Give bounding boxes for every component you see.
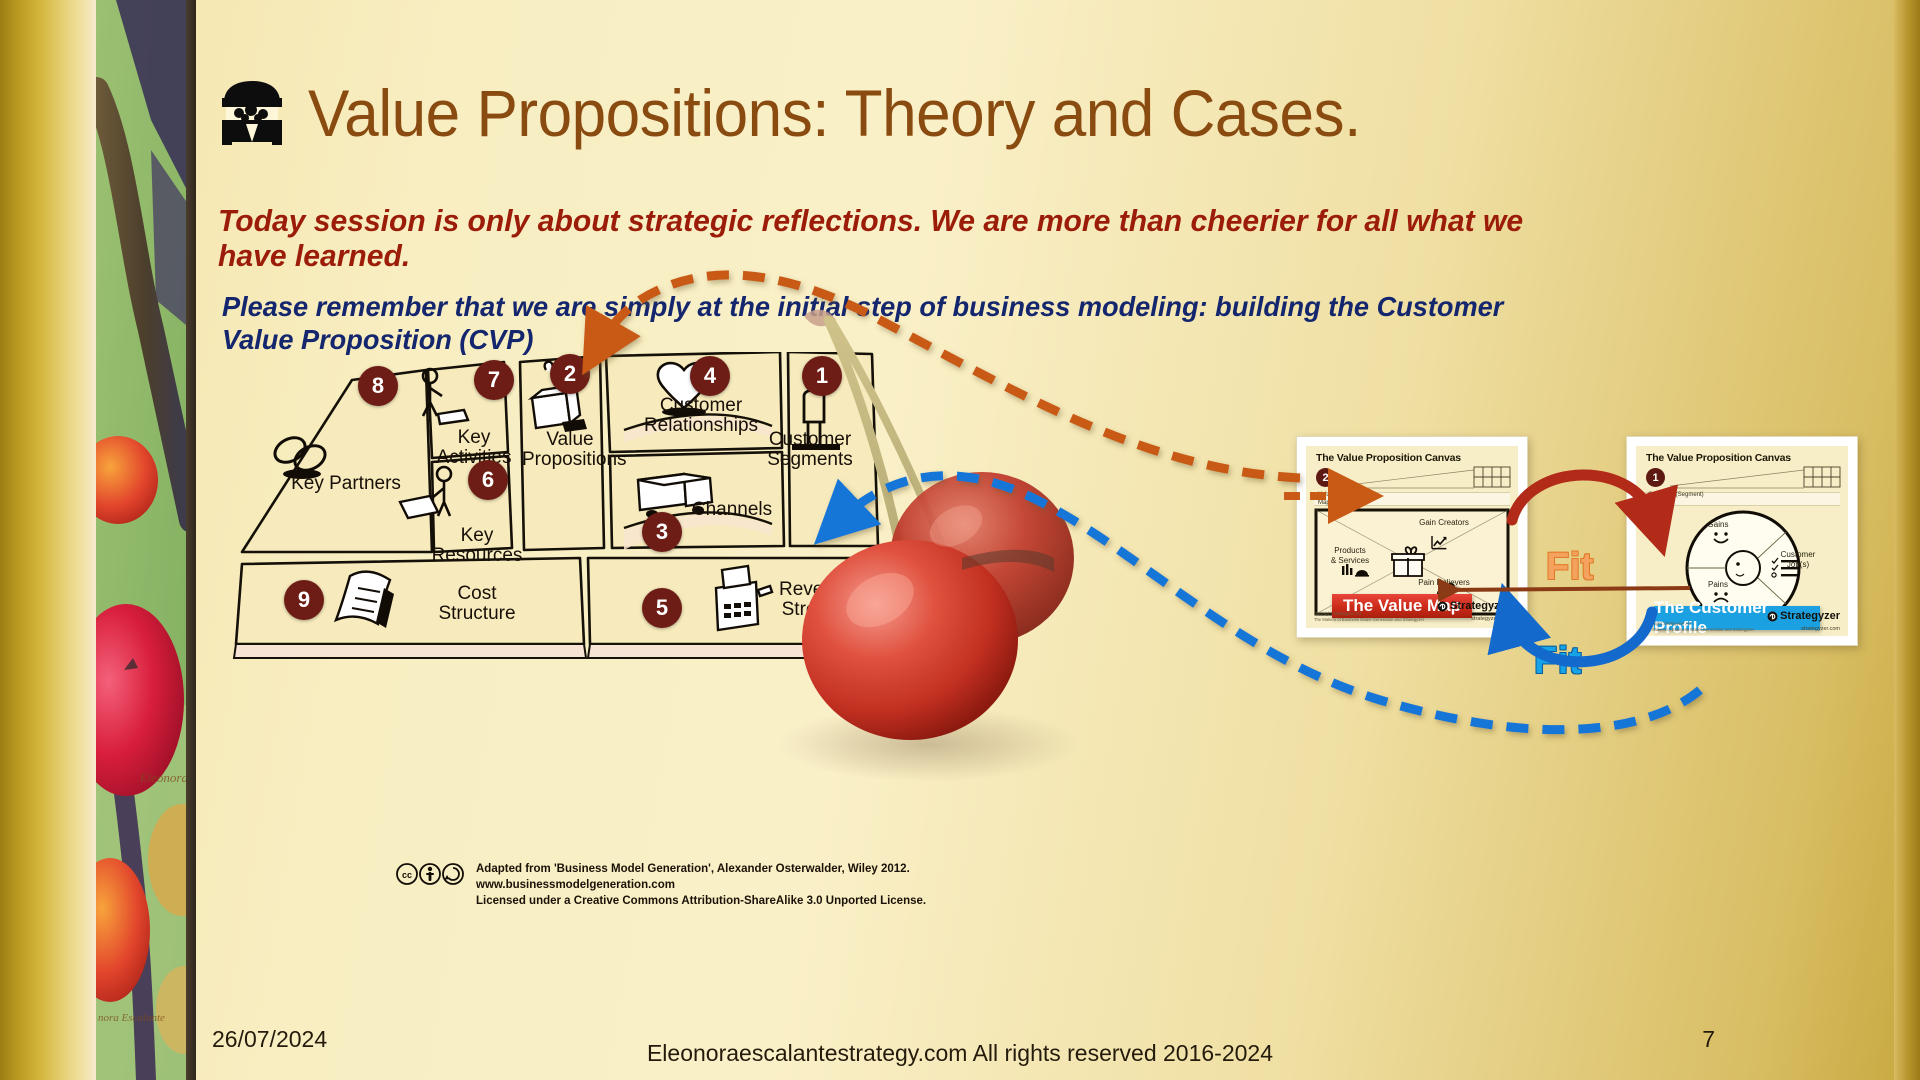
bmc-label-cost-structure: Cost Structure xyxy=(422,584,532,624)
bmc-number-8: 8 xyxy=(358,366,398,406)
left-fruit-artwork: Eleonora nora Escalante xyxy=(96,0,192,1080)
footer-copyright: Eleonoraescalantestrategy.com All rights… xyxy=(0,1040,1920,1067)
bmc-number-3: 3 xyxy=(642,512,682,552)
right-gold-edge-band xyxy=(1894,0,1920,1080)
bmc-number-7: 7 xyxy=(474,360,514,400)
customer-profile-brand: Strategyzer xyxy=(1767,610,1840,622)
customer-profile-region-gains: Gains xyxy=(1688,520,1748,530)
left-divider-bar xyxy=(186,0,196,1080)
customer-profile-mini-canvas-icon xyxy=(1636,464,1848,494)
value-map-mini-canvas-icon xyxy=(1306,464,1518,494)
creative-commons-icons: cc xyxy=(396,862,466,891)
customer-profile-url: strategyzer.com xyxy=(1801,626,1840,632)
fit-label-top: Fit xyxy=(1546,546,1594,589)
value-map-sub-label: Value (Proposition) Map xyxy=(1318,492,1369,507)
bmc-label-key-partners: Key Partners xyxy=(286,474,406,494)
customer-profile-copyright: Copyright Strategyzer AG The Makers of B… xyxy=(1644,621,1754,632)
bmc-label-value-propositions: Value Propositions xyxy=(522,430,618,470)
customer-profile-region-customer-jobs: Customer Job(s) xyxy=(1768,550,1828,569)
bmc-label-key-resources: Key Resources xyxy=(422,526,532,566)
bmc-label-key-activities: Key Activities xyxy=(424,428,524,468)
value-map-brand-text: Strategyzer xyxy=(1450,600,1510,612)
value-map-panel[interactable]: The Value Proposition Canvas 2 Value (Pr… xyxy=(1296,436,1528,638)
slide-canvas: Eleonora nora Escalante Va xyxy=(0,0,1920,1080)
title-row: Value Propositions: Theory and Cases. xyxy=(196,0,1894,190)
bmc-number-9: 9 xyxy=(284,580,324,620)
fit-label-bottom: Fit xyxy=(1534,640,1582,683)
left-gold-gradient-band xyxy=(0,0,96,1080)
value-map-header: The Value Proposition Canvas xyxy=(1316,452,1461,464)
value-map-region-pain-relievers: Pain Relievers xyxy=(1406,578,1482,588)
bmc-number-2: 2 xyxy=(550,354,590,394)
customer-profile-panel[interactable]: The Value Proposition Canvas 1 Customer … xyxy=(1626,436,1858,646)
customer-profile-region-pains: Pains xyxy=(1688,580,1748,590)
treasure-chest-icon xyxy=(216,76,288,151)
page-title: Value Propositions: Theory and Cases. xyxy=(308,80,1361,146)
value-map-url: strategyzer.com xyxy=(1471,616,1510,622)
value-map-inner: The Value Proposition Canvas 2 Value (Pr… xyxy=(1306,446,1518,628)
customer-profile-inner: The Value Proposition Canvas 1 Customer … xyxy=(1636,446,1848,636)
creative-commons-credit: cc Adapted from 'Business Model Generati… xyxy=(396,862,926,910)
artwork-signature-top: Eleonora xyxy=(140,770,188,786)
footer-page-number: 7 xyxy=(1702,1026,1715,1053)
svg-text:cc: cc xyxy=(402,870,412,880)
strategyzer-logo-icon xyxy=(1767,611,1778,622)
customer-profile-sub-label: Customer (Segment) Profile xyxy=(1648,492,1704,507)
bmc-number-4: 4 xyxy=(690,356,730,396)
value-map-copyright: Copyright Strategyzer AG The Makers of B… xyxy=(1314,611,1424,622)
value-map-brand: Strategyzer xyxy=(1437,600,1510,612)
cherries-photo xyxy=(732,258,1114,804)
customer-profile-header: The Value Proposition Canvas xyxy=(1646,452,1791,464)
value-map-region-gain-creators: Gain Creators xyxy=(1406,518,1482,528)
bmc-number-6: 6 xyxy=(468,460,508,500)
value-map-region-products-services: Products & Services xyxy=(1322,546,1378,565)
credit-text: Adapted from 'Business Model Generation'… xyxy=(476,862,926,910)
artwork-signature-bottom: nora Escalante xyxy=(98,1012,165,1024)
strategyzer-logo-icon xyxy=(1437,601,1448,612)
bmc-number-5: 5 xyxy=(642,588,682,628)
customer-profile-brand-text: Strategyzer xyxy=(1780,610,1840,622)
